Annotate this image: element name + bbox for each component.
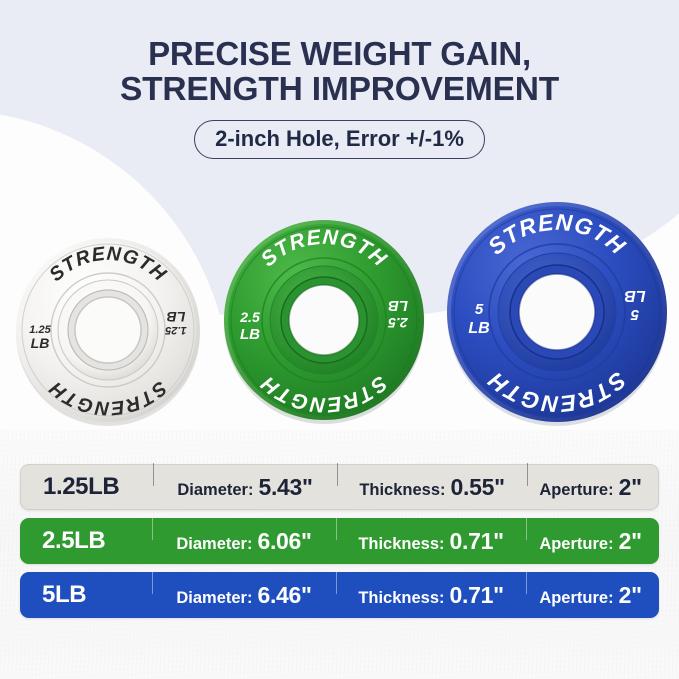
spec-cell-weight: 1.25LB	[25, 473, 153, 501]
plates-row: STRENGTH STRENGTH 1.25 LB 1.25 LB	[0, 180, 679, 430]
plate-5lb: STRENGTH STRENGTH 5 LB 5 LB	[443, 198, 671, 426]
spec-thickness-label: Thickness:	[359, 481, 445, 500]
spec-cell-thickness: Thickness: 0.55"	[337, 474, 527, 501]
spec-cell-diameter: Diameter: 6.46"	[152, 582, 336, 609]
spec-cell-aperture: Aperture: 2"	[526, 582, 655, 609]
spec-cell-thickness: Thickness: 0.71"	[336, 582, 526, 609]
spec-cell-diameter: Diameter: 6.06"	[152, 528, 336, 555]
svg-text:LB: LB	[468, 320, 489, 337]
spec-cell-aperture: Aperture: 2"	[526, 528, 655, 555]
svg-text:5: 5	[630, 306, 639, 323]
spec-diameter-value: 6.06"	[257, 528, 311, 555]
plate-weight-right-2-5lb: 2.5 LB	[388, 297, 409, 331]
spec-aperture-label: Aperture:	[539, 481, 613, 500]
plate-weight-right-1-25lb: 1.25 LB	[164, 309, 186, 336]
svg-text:5: 5	[475, 301, 484, 318]
spec-diameter-value: 6.46"	[257, 582, 311, 609]
spec-aperture-label: Aperture:	[539, 535, 613, 554]
svg-text:LB: LB	[240, 326, 260, 343]
spec-weight-value: 1.25LB	[43, 473, 119, 501]
spec-row-5lb: 5LB Diameter: 6.46" Thickness: 0.71" Ape…	[20, 572, 659, 618]
badge-container: 2-inch Hole, Error +/-1%	[0, 120, 679, 159]
spec-diameter-label: Diameter:	[177, 481, 253, 500]
spec-cell-thickness: Thickness: 0.71"	[336, 528, 526, 555]
hole-error-badge: 2-inch Hole, Error +/-1%	[194, 120, 485, 159]
plate-weight-left-1-25lb: 1.25 LB	[29, 324, 51, 351]
spec-table: 1.25LB Diameter: 5.43" Thickness: 0.55" …	[20, 464, 659, 626]
plate-2-5lb: STRENGTH STRENGTH 2.5 LB 2.5 LB	[216, 212, 432, 428]
spec-thickness-value: 0.55"	[451, 474, 505, 501]
spec-cell-diameter: Diameter: 5.43"	[153, 474, 337, 501]
svg-text:2.5: 2.5	[388, 315, 409, 331]
svg-text:LB: LB	[624, 287, 645, 304]
svg-text:2.5: 2.5	[239, 309, 260, 325]
spec-cell-weight: 5LB	[24, 581, 152, 609]
spec-weight-value: 2.5LB	[42, 527, 105, 555]
spec-diameter-value: 5.43"	[258, 474, 312, 501]
spec-diameter-label: Diameter:	[176, 589, 252, 608]
page-title-line-1: PRECISE WEIGHT GAIN,	[0, 36, 679, 72]
infographic-canvas: PRECISE WEIGHT GAIN, STRENGTH IMPROVEMEN…	[0, 0, 679, 679]
plate-1-25lb: STRENGTH STRENGTH 1.25 LB 1.25 LB	[8, 230, 208, 430]
spec-cell-aperture: Aperture: 2"	[527, 474, 654, 501]
spec-aperture-value: 2"	[619, 582, 642, 609]
spec-aperture-label: Aperture:	[539, 589, 613, 608]
spec-thickness-value: 0.71"	[450, 582, 504, 609]
svg-text:LB: LB	[31, 335, 50, 351]
spec-diameter-label: Diameter:	[176, 535, 252, 554]
spec-row-2-5lb: 2.5LB Diameter: 6.06" Thickness: 0.71" A…	[20, 518, 659, 564]
svg-text:LB: LB	[388, 297, 408, 314]
header-block: PRECISE WEIGHT GAIN, STRENGTH IMPROVEMEN…	[0, 36, 679, 108]
plate-weight-left-2-5lb: 2.5 LB	[239, 309, 260, 343]
page-title-line-2: STRENGTH IMPROVEMENT	[0, 72, 679, 108]
spec-aperture-value: 2"	[619, 528, 642, 555]
spec-thickness-value: 0.71"	[450, 528, 504, 555]
svg-text:LB: LB	[167, 309, 186, 325]
spec-weight-value: 5LB	[42, 581, 86, 609]
spec-cell-weight: 2.5LB	[24, 527, 152, 555]
spec-aperture-value: 2"	[619, 474, 642, 501]
spec-row-1-25lb: 1.25LB Diameter: 5.43" Thickness: 0.55" …	[20, 464, 659, 510]
spec-thickness-label: Thickness:	[358, 589, 444, 608]
spec-thickness-label: Thickness:	[358, 535, 444, 554]
